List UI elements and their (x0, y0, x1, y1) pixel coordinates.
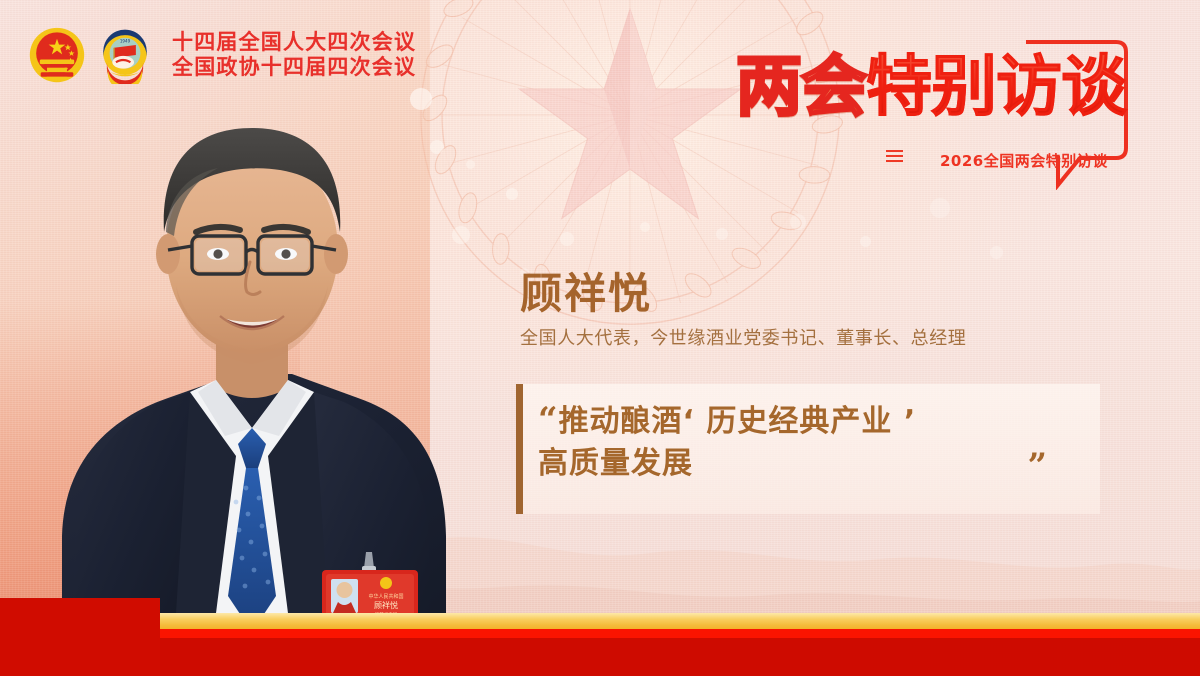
bokeh-dot (640, 222, 650, 232)
guest-info: 顾祥悦 全国人大代表，今世缘酒业党委书记、董事长、总经理 (520, 272, 966, 350)
bokeh-dot (930, 198, 950, 218)
bokeh-dot (790, 214, 806, 230)
bokeh-dot (716, 228, 728, 240)
bokeh-dot (466, 160, 475, 169)
guest-role: 全国人大代表，今世缘酒业党委书记、董事长、总经理 (520, 324, 966, 350)
quote-close-mark: ” (1027, 444, 1048, 490)
logo-tick-lines-icon (886, 150, 903, 165)
bokeh-dot (990, 246, 1003, 259)
bottom-bright-red-strip (0, 629, 1200, 638)
bottom-red-band (0, 638, 1200, 676)
quote-text: “推动酿酒‘ 历史经典产业 ’ 高质量发展” (538, 398, 1094, 490)
svg-text:顾祥悦: 顾祥悦 (374, 600, 398, 610)
bokeh-dot (506, 188, 518, 200)
quote-line-1: 推动酿酒‘ 历史经典产业 ’ (559, 404, 917, 439)
program-logo-subtitle: 2026全国两会特别访谈 (940, 150, 1108, 171)
program-logo-title: 两会特别访谈 (736, 54, 1126, 120)
broadcast-banner: 1949 十四届全国人大四次会议 全国政协十四届四次会议 两会特别访谈 (0, 0, 1200, 676)
program-logo-title-gold: 两会 (736, 48, 866, 125)
program-logo-title-red: 特别访谈 (866, 48, 1126, 125)
quote-block: “推动酿酒‘ 历史经典产业 ’ 高质量发展” (516, 384, 1100, 514)
program-logo: 两会特别访谈 2026全国两会特别访谈 (728, 40, 1148, 190)
quote-line-2: 高质量发展 (538, 446, 693, 481)
bottom-red-band-left-block (0, 598, 160, 676)
svg-text:中华人民共和国: 中华人民共和国 (368, 593, 403, 600)
guest-name: 顾祥悦 (520, 272, 966, 316)
bokeh-dot (860, 236, 871, 247)
bokeh-dot (560, 232, 574, 246)
quote-open-mark: “ (538, 400, 559, 440)
quote-accent-bar (516, 384, 523, 514)
bottom-gold-band (0, 613, 1200, 630)
